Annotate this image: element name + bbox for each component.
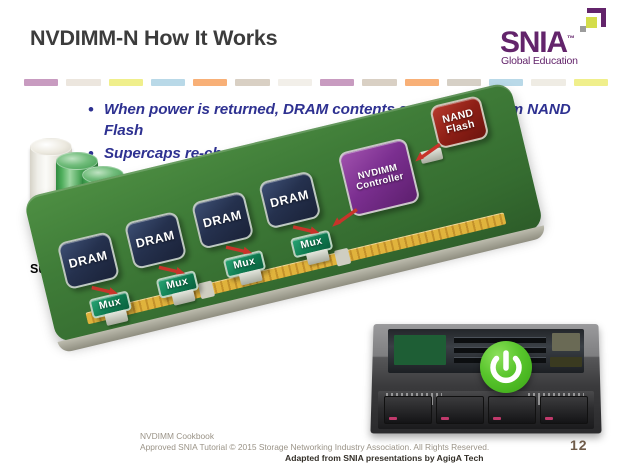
rule-dash [278, 79, 312, 86]
page-title: NVDIMM-N How It Works [30, 26, 277, 51]
rule-dash [66, 79, 100, 86]
snia-logo: SNIA™ Global Education [500, 8, 608, 70]
trademark-icon: ™ [567, 34, 575, 43]
chip-label: DRAM [269, 189, 310, 211]
rule-dash [320, 79, 354, 86]
chip-label: DRAM [135, 229, 176, 251]
rule-dash [531, 79, 565, 86]
drive-bay [384, 396, 432, 424]
slide-canvas: NVDIMM-N How It Works SNIA™ Global Educa… [0, 0, 620, 465]
server-cable [550, 357, 582, 367]
footer-line-2: Approved SNIA Tutorial © 2015 Storage Ne… [140, 442, 540, 453]
snia-tagline: Global Education [501, 55, 609, 67]
chip-label: NVDIMM Controller [353, 162, 405, 193]
rule-dash [109, 79, 143, 86]
rack-server-photo [372, 323, 600, 433]
server-front-panel [378, 391, 594, 429]
footer-attribution: Adapted from SNIA presentations by AgigA… [285, 453, 483, 463]
rule-dash [574, 79, 608, 86]
nvdimm-controller-chip: NVDIMM Controller [337, 137, 420, 218]
footer: NVDIMM Cookbook Approved SNIA Tutorial ©… [140, 431, 540, 453]
rule-dash [151, 79, 185, 86]
decorative-color-rule [24, 79, 608, 86]
power-icon [480, 341, 532, 393]
data-flow-arrow-icon [410, 142, 441, 164]
bullet-marker-icon: • [88, 99, 104, 120]
rule-dash [447, 79, 481, 86]
rule-dash [405, 79, 439, 86]
chip-label: DRAM [68, 250, 109, 272]
rule-dash [193, 79, 227, 86]
drive-bay [488, 396, 536, 424]
rule-dash [24, 79, 58, 86]
rule-dash [235, 79, 269, 86]
page-number: 12 [570, 437, 588, 453]
snia-wordmark: SNIA™ [500, 24, 608, 58]
drive-bay [436, 396, 484, 424]
data-flow-arrow-icon [327, 207, 358, 229]
footer-line-1: NVDIMM Cookbook [140, 431, 540, 442]
server-psu [552, 333, 580, 351]
rule-dash [362, 79, 396, 86]
chip-label: DRAM [202, 209, 243, 231]
nvdimm-diagram: Supercaps DRAM DRAM DRAM DRAM [0, 128, 620, 428]
drive-bay [540, 396, 588, 424]
server-mainboard [394, 335, 446, 365]
chip-label: NAND Flash [441, 108, 477, 137]
